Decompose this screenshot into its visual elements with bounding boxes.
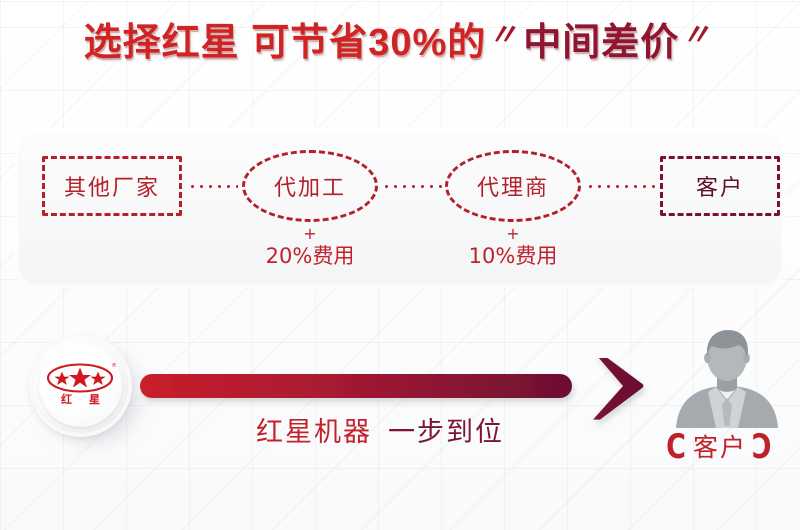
flow-fee-agent: + 10%费用 <box>435 225 591 269</box>
flow-connector-3 <box>586 185 656 188</box>
flow-node-label: 代理商 <box>477 170 549 202</box>
hongxing-three-star-logo-icon: ® 红 星 <box>45 360 116 410</box>
bottom-tagline: 红星机器一步到位 <box>180 410 580 449</box>
businessman-avatar-icon <box>672 330 782 428</box>
flow-node-label: 客户 <box>696 170 744 202</box>
headline-part1: 选择红星 可节省30%的 <box>84 24 487 62</box>
flow-fee-oem: + 20%费用 <box>232 225 388 269</box>
logo-char-left: 红 <box>61 392 72 406</box>
hongxing-logo-badge: ® 红 星 <box>33 338 128 433</box>
headline-emphasis: 中间差价 <box>523 24 679 62</box>
page-title: 选择红星 可节省30%的〃中间差价〃 <box>0 24 800 62</box>
bracket-right-icon: Ɔ <box>752 428 774 467</box>
fee-plus-sign: + <box>232 225 388 243</box>
fee-plus-sign: + <box>435 225 591 243</box>
poster-canvas: 选择红星 可节省30%的〃中间差价〃 其他厂家 代加工 + 20%费用 代理商 … <box>0 0 800 530</box>
flow-connector-1 <box>188 185 238 188</box>
flow-node-label: 其他厂家 <box>64 170 160 202</box>
fee-amount: 10%费用 <box>435 244 591 268</box>
flow-node-oem: 代加工 <box>242 150 378 222</box>
flow-node-label: 代加工 <box>274 170 346 202</box>
quote-open-mark: 〃 <box>487 21 522 51</box>
tagline-brand: 红星机器 <box>256 417 372 448</box>
client-caption: C客户Ɔ <box>640 428 800 464</box>
tagline-claim: 一步到位 <box>388 417 504 448</box>
client-label: 客户 <box>693 433 747 462</box>
svg-text:®: ® <box>112 362 117 369</box>
bracket-left-icon: C <box>666 428 688 467</box>
logo-char-right: 星 <box>89 393 100 406</box>
flow-node-client: 客户 <box>660 156 780 216</box>
middleman-flow-card: 其他厂家 代加工 + 20%费用 代理商 + 10%费用 客户 <box>20 133 780 283</box>
quote-close-mark: 〃 <box>680 21 715 51</box>
fee-amount: 20%费用 <box>232 244 388 268</box>
flow-node-agent: 代理商 <box>445 150 581 222</box>
flow-node-other-factory: 其他厂家 <box>42 156 182 216</box>
flow-connector-2 <box>382 185 442 188</box>
